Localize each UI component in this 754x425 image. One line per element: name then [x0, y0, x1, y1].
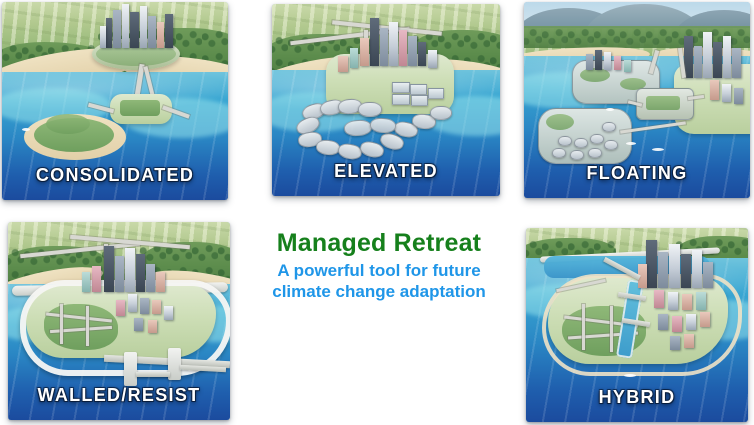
panel-walled-resist[interactable]: WALLED/RESIST — [8, 222, 230, 420]
panel-label-walled-resist: WALLED/RESIST — [8, 385, 230, 406]
panel-label-hybrid: HYBRID — [526, 387, 748, 408]
centre-text-block: Managed Retreat A powerful tool for futu… — [248, 230, 510, 303]
slide-canvas: CONSOLIDATED — [0, 0, 754, 425]
subtitle-line-2: climate change adaptation — [248, 282, 510, 303]
panel-consolidated[interactable]: CONSOLIDATED — [2, 2, 228, 200]
panel-floating[interactable]: FLOATING — [524, 2, 750, 198]
panel-hybrid[interactable]: HYBRID — [526, 228, 748, 422]
subtitle-line-1: A powerful tool for future — [248, 261, 510, 282]
panel-label-elevated: ELEVATED — [272, 161, 500, 182]
panel-label-floating: FLOATING — [524, 163, 750, 184]
page-title: Managed Retreat — [248, 230, 510, 256]
panel-label-consolidated: CONSOLIDATED — [2, 165, 228, 186]
panel-elevated[interactable]: ELEVATED — [272, 4, 500, 196]
